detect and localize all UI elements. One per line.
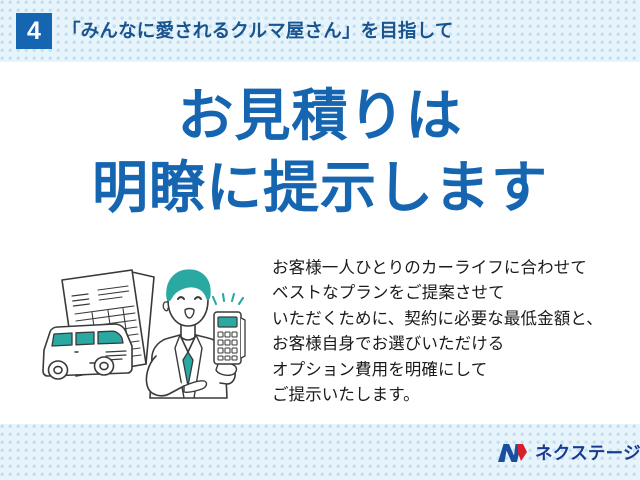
content-panel: お見積りは 明瞭に提示します お客様一人ひとりのカーライフに合わせて ベストなプ… <box>0 62 640 424</box>
nextage-n-logo-icon <box>497 442 528 464</box>
body-copy: お客様一人ひとりのカーライフに合わせて ベストなプランをご提案させて いただくた… <box>272 256 632 408</box>
body-line-5: オプション費用を明確にして <box>272 358 632 383</box>
body-line-6: ご提示いたします。 <box>272 383 632 408</box>
advertisement-page: 4 「みんなに愛されるクルマ屋さん」を目指して お見積りは 明瞭に提示します お… <box>0 0 640 480</box>
body-line-1: お客様一人ひとりのカーライフに合わせて <box>272 256 632 281</box>
calculator <box>214 312 245 364</box>
body-line-2: ベストなプランをご提案させて <box>272 281 632 306</box>
illustration-salesperson-estimate <box>28 252 268 417</box>
headline: お見積りは 明瞭に提示します <box>0 80 640 224</box>
headline-line-1: お見積りは <box>0 80 640 152</box>
van <box>43 324 132 379</box>
brand-name: ネクステージ <box>535 442 640 464</box>
sparkle-icon <box>213 294 243 304</box>
header: 4 「みんなに愛されるクルマ屋さん」を目指して <box>0 0 640 62</box>
body-line-3: いただくために、契約に必要な最低金額と、 <box>272 307 632 332</box>
headline-line-2: 明瞭に提示します <box>0 152 640 224</box>
section-number-badge: 4 <box>16 13 52 49</box>
header-title: 「みんなに愛されるクルマ屋さん」を目指して <box>62 15 454 47</box>
body-line-4: お客様自身でお選びいただける <box>272 332 632 357</box>
brand-lockup: ネクステージ <box>497 440 640 466</box>
